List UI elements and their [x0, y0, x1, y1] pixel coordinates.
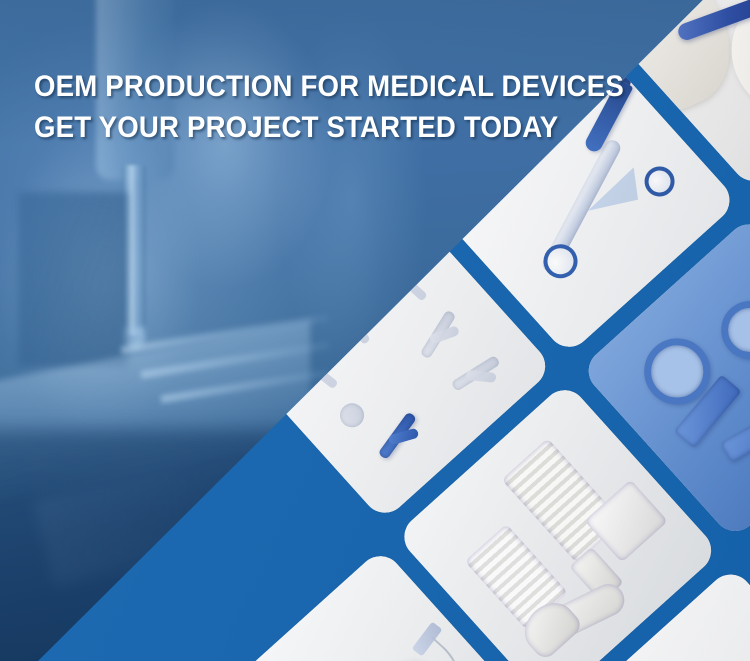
oem-production-banner: OEM PRODUCTION FOR MEDICAL DEVICES GET Y… — [0, 0, 750, 661]
headline-line-1: OEM PRODUCTION FOR MEDICAL DEVICES — [34, 66, 624, 107]
page-title: OEM PRODUCTION FOR MEDICAL DEVICES GET Y… — [34, 66, 624, 148]
pen-collar — [639, 160, 681, 202]
headline-line-2: GET YOUR PROJECT STARTED TODAY — [34, 107, 624, 148]
pen-hub — [538, 237, 584, 283]
